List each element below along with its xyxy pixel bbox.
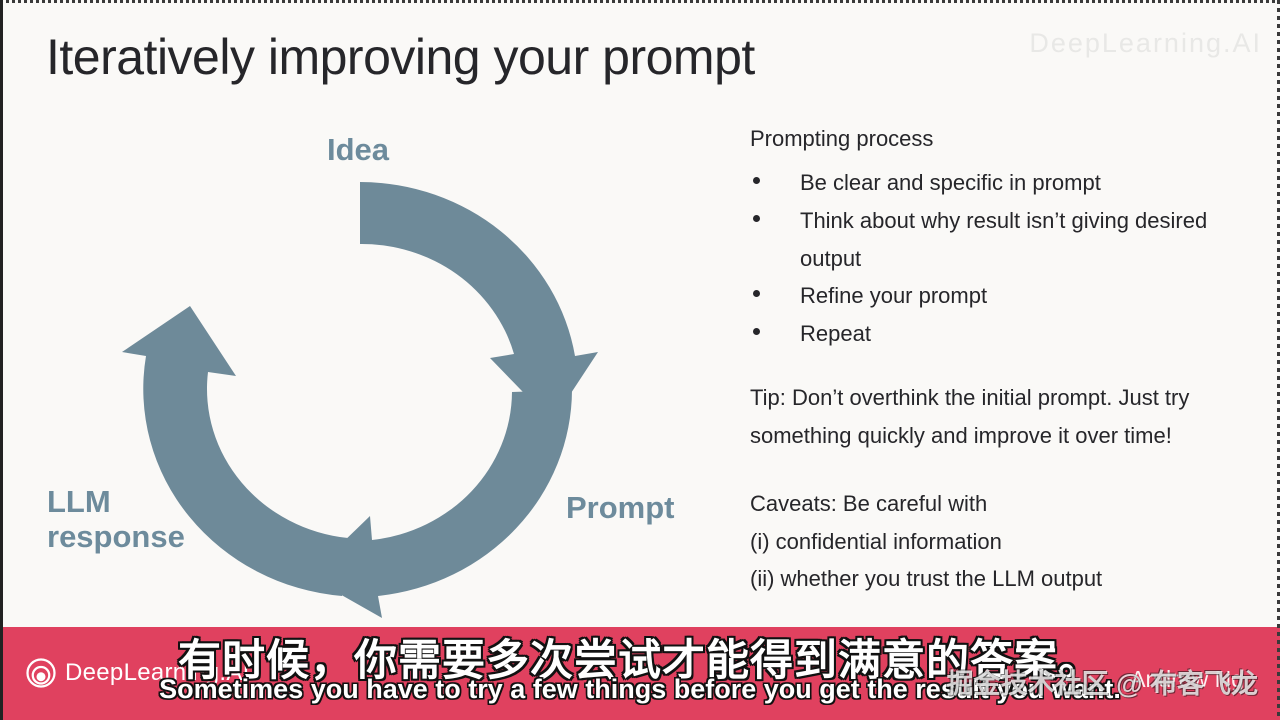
cycle-diagram [120, 160, 600, 620]
tip-paragraph: Tip: Don’t overthink the initial prompt.… [750, 379, 1260, 455]
list-item-label: Be clear and specific in prompt [800, 170, 1101, 195]
bullet-dot-icon [753, 177, 760, 184]
prompting-process-list: Be clear and specific in prompt Think ab… [750, 164, 1260, 353]
bullet-dot-icon [753, 328, 760, 335]
caveats-heading: Caveats: Be careful with [750, 485, 1260, 523]
caveat-item: (i) confidential information [750, 523, 1260, 561]
list-item: Be clear and specific in prompt [750, 164, 1260, 202]
page-title: Iteratively improving your prompt [46, 28, 755, 86]
cycle-label-prompt: Prompt [566, 491, 675, 526]
cycle-label-idea: Idea [327, 133, 389, 168]
cycle-label-llm-response: LLM response [47, 485, 185, 554]
frame-edge-top [0, 0, 1280, 3]
list-item-label: Think about why result isn’t giving desi… [800, 208, 1207, 271]
content-column: Prompting process Be clear and specific … [750, 128, 1260, 598]
bullet-dot-icon [753, 215, 760, 222]
list-item: Refine your prompt [750, 277, 1260, 315]
frame-edge-left [0, 0, 3, 720]
caveats-block: Caveats: Be careful with (i) confidentia… [750, 485, 1260, 598]
watermark-bottom-right: 掘金技术社区 @ 布客飞龙 [947, 662, 1258, 701]
watermark-top-right: DeepLearning.AI [1029, 28, 1262, 59]
cycle-arrows [122, 182, 598, 618]
prompting-process-heading: Prompting process [750, 128, 1260, 150]
slide-canvas: Iteratively improving your prompt DeepLe… [0, 0, 1280, 720]
caveat-item: (ii) whether you trust the LLM output [750, 560, 1260, 598]
list-item: Think about why result isn’t giving desi… [750, 202, 1260, 278]
list-item-label: Repeat [800, 321, 871, 346]
list-item: Repeat [750, 315, 1260, 353]
list-item-label: Refine your prompt [800, 283, 987, 308]
bullet-dot-icon [753, 290, 760, 297]
